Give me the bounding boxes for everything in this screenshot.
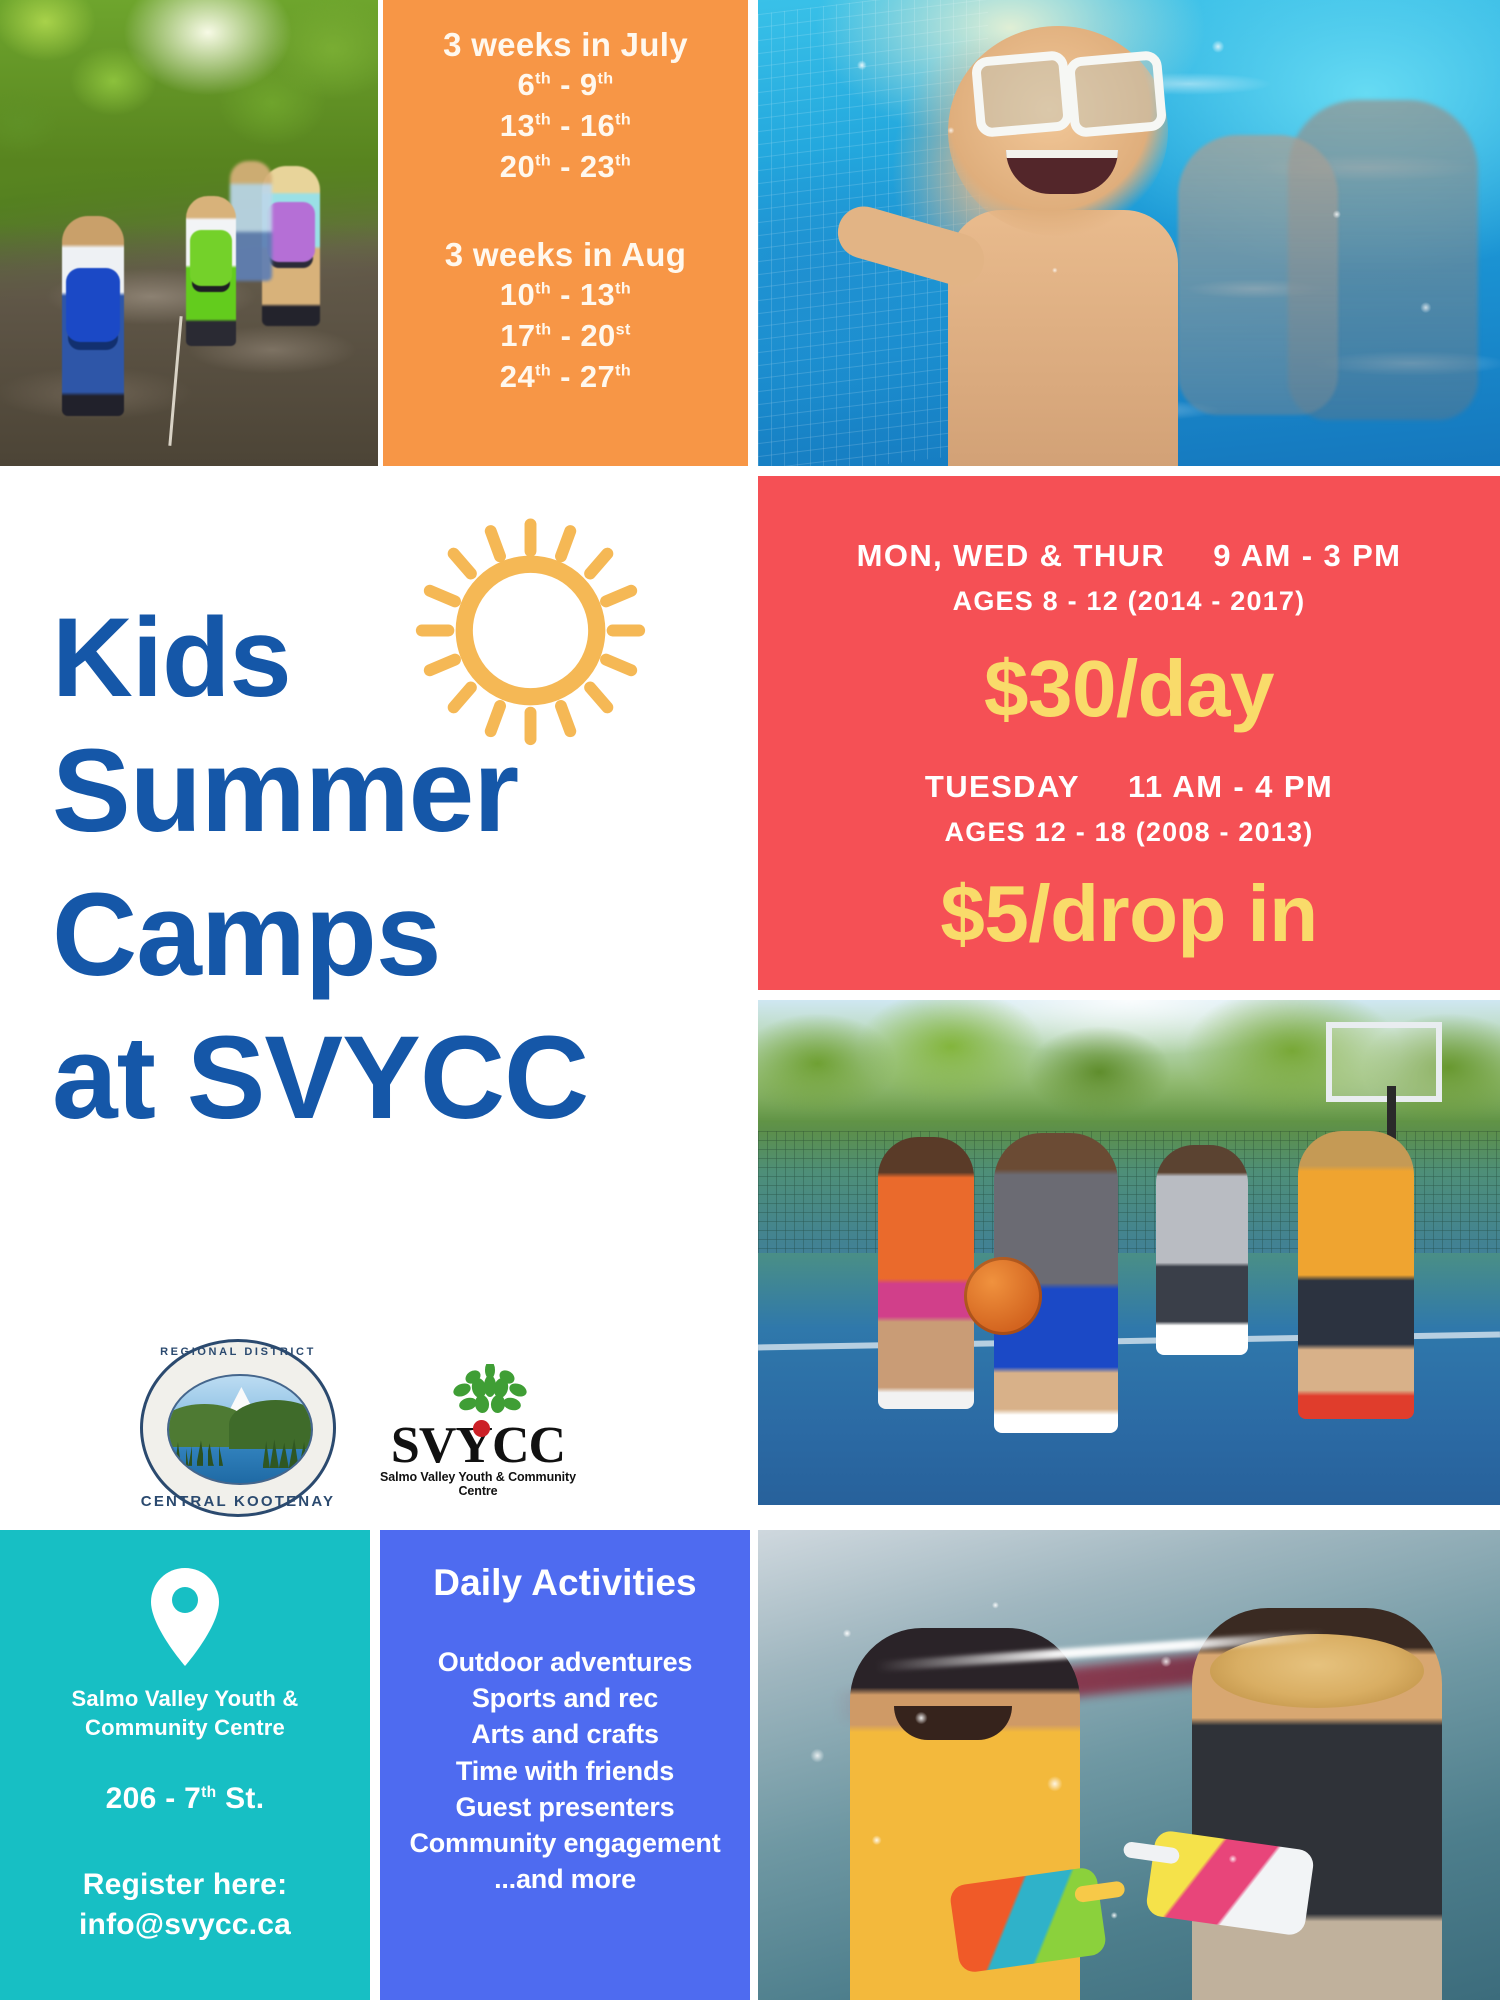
venue-name: Salmo Valley Youth & Community Centre	[0, 1684, 370, 1742]
title-line-3: Camps	[52, 875, 752, 997]
group1-price: $30/day	[758, 643, 1500, 735]
player-figure	[1298, 1131, 1414, 1419]
street-address: 206 - 7th St.	[0, 1782, 370, 1816]
date-ordinal: th	[615, 362, 631, 380]
date-end: 20	[580, 318, 615, 353]
hiker-figure	[62, 216, 124, 416]
august-week-1: 10th - 13th	[500, 275, 631, 316]
title-line-1: Kids	[52, 600, 752, 715]
date-start: 17	[500, 318, 535, 353]
water-fight-photo	[758, 1530, 1500, 2000]
register-email[interactable]: info@svycc.ca	[0, 1908, 370, 1942]
group1-days: MON, WED & THUR	[857, 538, 1166, 573]
list-item: Arts and crafts	[380, 1716, 750, 1752]
water-bubbles	[758, 0, 1500, 466]
date-ordinal: th	[535, 152, 551, 170]
hiking-photo	[0, 0, 378, 466]
date-start: 10	[500, 277, 535, 312]
group2-time: 11 AM - 4 PM	[1128, 769, 1333, 804]
date-end: 27	[580, 359, 615, 394]
group2-ages: AGES 12 - 18 (2008 - 2013)	[758, 817, 1500, 848]
address-suffix: St.	[216, 1782, 264, 1815]
contact-panel: Salmo Valley Youth & Community Centre 20…	[0, 1530, 370, 2000]
date-ordinal: st	[616, 321, 631, 339]
activities-list: Outdoor adventures Sports and rec Arts a…	[380, 1644, 750, 1897]
venue-name-line-1: Salmo Valley Youth &	[0, 1684, 370, 1713]
rdck-logo-bottom-text: CENTRAL KOOTENAY	[140, 1493, 336, 1510]
date-ordinal: th	[536, 321, 552, 339]
basketball-icon	[964, 1257, 1042, 1335]
list-item: Sports and rec	[380, 1680, 750, 1716]
activities-title: Daily Activities	[380, 1562, 750, 1604]
group1-ages: AGES 8 - 12 (2014 - 2017)	[758, 586, 1500, 617]
list-item: Time with friends	[380, 1753, 750, 1789]
logo-row: REGIONAL DISTRICT CENTRAL KOOTENAY	[140, 1335, 610, 1520]
address-ordinal: th	[201, 1784, 216, 1801]
rdck-logo-top-text: REGIONAL DISTRICT	[140, 1346, 336, 1358]
date-end: 16	[580, 108, 615, 143]
address-number: 206 - 7	[106, 1782, 202, 1815]
date-start: 24	[500, 359, 535, 394]
title-line-4: at SVYCC	[52, 1018, 752, 1140]
svycc-logo-dot	[473, 1420, 490, 1437]
date-start: 13	[500, 108, 535, 143]
camp-dates-panel: 3 weeks in July 6th - 9th 13th - 16th 20…	[383, 0, 748, 466]
group2-days-time: TUESDAY11 AM - 4 PM	[758, 769, 1500, 805]
date-end: 9	[580, 67, 598, 102]
backboard	[1326, 1022, 1442, 1102]
venue-name-line-2: Community Centre	[0, 1713, 370, 1742]
water-spray-droplets	[758, 1530, 1500, 2000]
date-dash: -	[561, 318, 572, 353]
date-ordinal: th	[598, 70, 614, 88]
hiker-figure	[186, 196, 236, 346]
date-ordinal: th	[535, 280, 551, 298]
rdck-logo-scene	[167, 1374, 312, 1485]
list-item: ...and more	[380, 1861, 750, 1897]
august-week-3: 24th - 27th	[500, 357, 631, 398]
july-week-3: 20th - 23th	[500, 147, 631, 188]
august-heading: 3 weeks in Aug	[445, 234, 686, 275]
svycc-logo: SVYCC Salmo Valley Youth & Community Cen…	[378, 1368, 578, 1488]
schedule-price-panel: MON, WED & THUR9 AM - 3 PM AGES 8 - 12 (…	[758, 476, 1500, 990]
list-item: Guest presenters	[380, 1789, 750, 1825]
date-dash: -	[560, 149, 571, 184]
price-spacer	[758, 735, 1500, 769]
list-item: Outdoor adventures	[380, 1644, 750, 1680]
july-week-1: 6th - 9th	[517, 65, 613, 106]
group1-time: 9 AM - 3 PM	[1213, 538, 1401, 573]
date-dash: -	[560, 359, 571, 394]
date-ordinal: th	[535, 70, 551, 88]
list-item: Community engagement	[380, 1825, 750, 1861]
group2-days: TUESDAY	[925, 769, 1080, 804]
group1-days-time: MON, WED & THUR9 AM - 3 PM	[758, 538, 1500, 574]
hiker-figure	[230, 161, 272, 281]
date-ordinal: th	[615, 280, 631, 298]
july-week-2: 13th - 16th	[500, 106, 631, 147]
map-pin-icon	[147, 1566, 223, 1668]
player-figure	[878, 1137, 974, 1409]
date-ordinal: th	[615, 111, 631, 129]
swimming-pool-photo	[758, 0, 1500, 466]
svycc-tagline: Salmo Valley Youth & Community Centre	[378, 1470, 578, 1498]
july-heading: 3 weeks in July	[443, 24, 688, 65]
date-end: 13	[580, 277, 615, 312]
basketball-photo	[758, 1000, 1500, 1505]
hill-shape	[229, 1400, 313, 1449]
page-title: Kids Summer Camps at SVYCC	[52, 600, 752, 1140]
daily-activities-panel: Daily Activities Outdoor adventures Spor…	[380, 1530, 750, 2000]
date-ordinal: th	[615, 152, 631, 170]
date-dash: -	[560, 67, 571, 102]
date-dash: -	[560, 277, 571, 312]
date-end: 23	[580, 149, 615, 184]
rdck-logo: REGIONAL DISTRICT CENTRAL KOOTENAY	[140, 1339, 336, 1517]
august-week-2: 17th - 20st	[500, 316, 631, 357]
player-figure	[1156, 1145, 1248, 1355]
date-dash: -	[560, 108, 571, 143]
register-label: Register here:	[0, 1868, 370, 1902]
date-start: 20	[500, 149, 535, 184]
date-start: 6	[517, 67, 535, 102]
date-ordinal: th	[535, 362, 551, 380]
group2-price: $5/drop in	[758, 868, 1500, 960]
summer-camp-poster: 3 weeks in July 6th - 9th 13th - 16th 20…	[0, 0, 1500, 2000]
title-line-2: Summer	[52, 731, 752, 853]
date-ordinal: th	[535, 111, 551, 129]
